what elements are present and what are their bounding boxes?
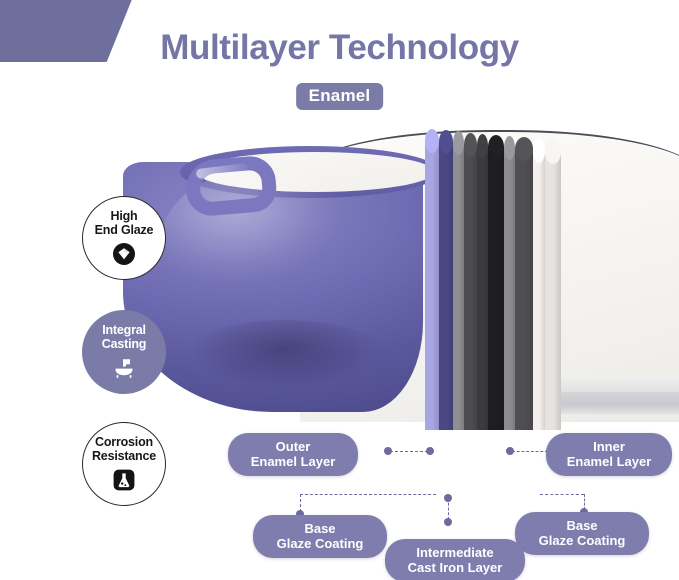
badge-label-line1: Corrosion — [95, 435, 153, 449]
feature-badge-integral-casting[interactable]: Integral Casting — [82, 310, 166, 394]
leader-line-cast-iron — [448, 498, 449, 520]
layer-cap-base-glaze-grey — [453, 131, 464, 155]
layer-cap-inner-enamel-cream — [545, 140, 561, 164]
layer-cap-cast-iron-grey-2 — [477, 134, 488, 158]
layer-strip-cast-iron-grey-3 — [504, 147, 515, 430]
page-title: Multilayer Technology — [0, 28, 679, 68]
layer-strip-cast-iron-grey-1 — [464, 144, 477, 430]
callout-line1: Outer — [276, 439, 311, 454]
subtitle-badge: Enamel — [296, 83, 384, 110]
layer-strip-outer-enamel-dark-purple — [439, 141, 453, 430]
callout-base-glaze-coating-left[interactable]: Base Glaze Coating — [253, 515, 387, 558]
callout-inner-enamel-layer[interactable]: Inner Enamel Layer — [546, 433, 672, 476]
casting-pour-icon — [112, 356, 136, 380]
layer-cap-cast-iron-grey-3 — [504, 136, 515, 160]
flask-icon — [112, 468, 136, 492]
leader-dot-outer-enamel-end — [426, 447, 434, 455]
layer-strip-cast-iron-grey-4 — [515, 148, 533, 430]
badge-label-line1: Integral — [102, 323, 146, 337]
layer-strip-base-glaze-grey — [453, 142, 464, 430]
layer-cap-cast-iron-grey-4 — [515, 137, 533, 161]
badge-label-line2: End Glaze — [95, 223, 154, 237]
layer-cap-cast-iron-grey-1 — [464, 133, 477, 157]
leader-dot-cast-iron-bottom — [444, 518, 452, 526]
callout-outer-enamel-layer[interactable]: Outer Enamel Layer — [228, 433, 358, 476]
layer-strip-outer-enamel-purple — [425, 140, 439, 430]
callout-base-glaze-coating-right[interactable]: Base Glaze Coating — [515, 512, 649, 555]
feature-badge-high-end-glaze[interactable]: High End Glaze — [82, 196, 166, 280]
leader-line-outer-enamel — [390, 451, 428, 452]
leader-line-base-glaze-right-h — [540, 494, 584, 495]
layer-strip-inner-enamel-cream — [545, 151, 561, 430]
badge-label-line1: High — [111, 209, 138, 223]
callout-line1: Intermediate — [416, 545, 493, 560]
callout-line1: Base — [304, 521, 335, 536]
badge-label-line2: Resistance — [92, 449, 156, 463]
layer-cap-outer-enamel-dark-purple — [439, 130, 453, 154]
callout-line2: Glaze Coating — [539, 533, 626, 548]
leader-line-base-glaze-left-h — [300, 494, 436, 495]
callout-line1: Base — [566, 518, 597, 533]
layer-cap-outer-enamel-purple — [425, 129, 439, 153]
feature-badge-corrosion-resistance[interactable]: Corrosion Resistance — [82, 422, 166, 506]
diamond-gem-icon — [112, 242, 136, 266]
callout-line1: Inner — [593, 439, 625, 454]
callout-line2: Glaze Coating — [277, 536, 364, 551]
callout-line2: Enamel Layer — [251, 454, 336, 469]
layer-strip-inner-base-glaze-white — [533, 150, 545, 430]
callout-line2: Enamel Layer — [567, 454, 652, 469]
layer-cap-inner-base-glaze-white — [533, 139, 545, 163]
callout-line2: Cast Iron Layer — [408, 560, 503, 575]
multilayer-technology-infographic: Multilayer Technology Enamel High End Gl… — [0, 0, 679, 580]
layer-cap-cast-iron-black — [488, 135, 504, 159]
callout-intermediate-cast-iron-layer[interactable]: Intermediate Cast Iron Layer — [385, 539, 525, 580]
leader-line-inner-enamel — [512, 451, 548, 452]
layer-strip-cast-iron-black — [488, 146, 504, 430]
badge-label-line2: Casting — [102, 337, 146, 351]
layer-strip-cast-iron-grey-2 — [477, 145, 488, 430]
